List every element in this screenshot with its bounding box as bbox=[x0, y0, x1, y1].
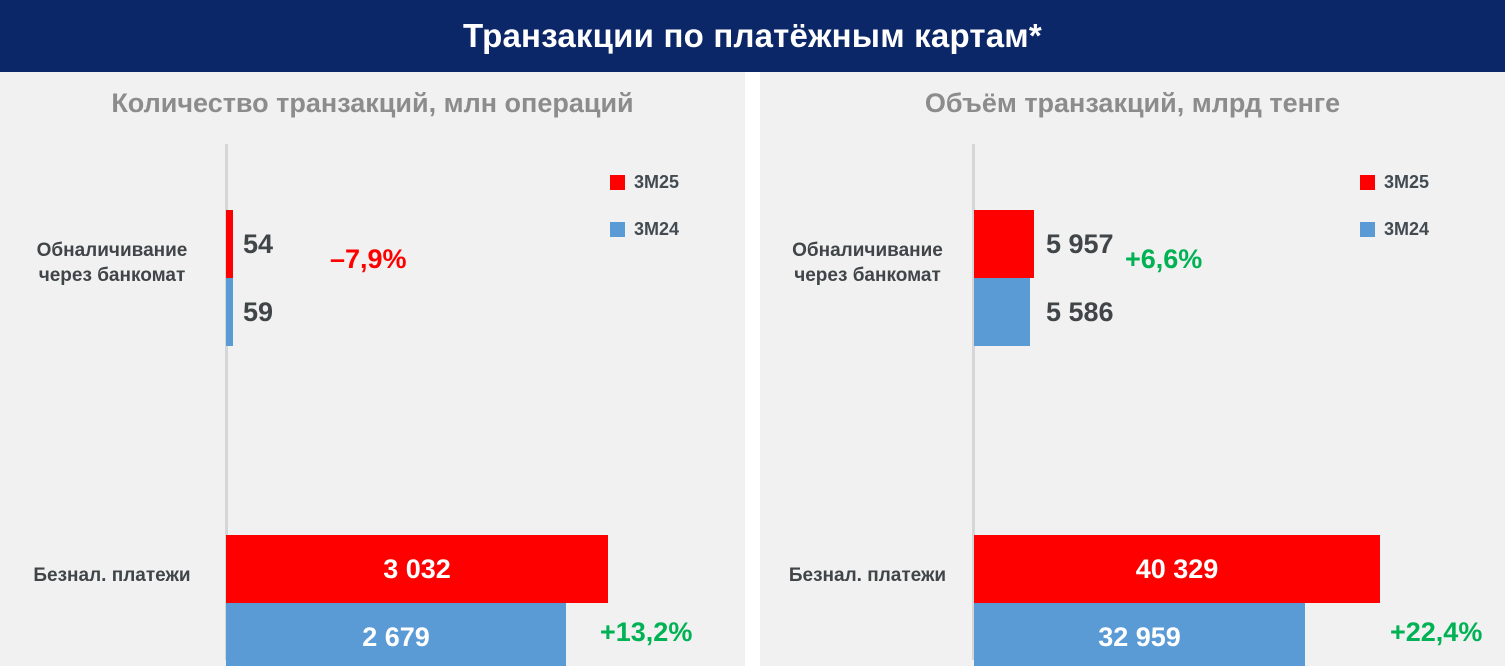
delta-label-cashless-right: +22,4% bbox=[1390, 617, 1482, 648]
bar-value-3m25-atm-left: 54 bbox=[243, 210, 273, 278]
category-label-atm-left: Обналичивание через банкомат bbox=[8, 238, 216, 288]
chart-title-right: Объём транзакций, млрд тенге bbox=[760, 88, 1505, 119]
bar-3m25-atm-right[interactable] bbox=[974, 210, 1034, 278]
bar-value-3m24-atm-left: 59 bbox=[243, 278, 273, 346]
chart-panel-transaction-volume: Объём транзакций, млрд тенге 3M25 3M24 bbox=[760, 72, 1505, 666]
header-bar: Транзакции по платёжным картам* bbox=[0, 0, 1505, 72]
page-title: Транзакции по платёжным картам* bbox=[463, 17, 1042, 55]
bar-value-3m25-atm-right: 5 957 bbox=[1046, 210, 1114, 278]
bar-value-3m25-cashless-left: 3 032 bbox=[226, 535, 608, 603]
bar-value-3m24-cashless-left: 2 679 bbox=[226, 603, 566, 666]
plot-area-right: 3M25 3M24 Обналичивание через банкомат 5… bbox=[760, 140, 1505, 666]
bar-3m24-atm-left[interactable] bbox=[226, 278, 233, 346]
category-label-cashless-right: Безнал. платежи bbox=[770, 563, 965, 588]
chart-title-left: Количество транзакций, млн операций bbox=[0, 88, 745, 119]
panel-divider bbox=[745, 72, 760, 666]
charts-container: Количество транзакций, млн операций 3M25… bbox=[0, 72, 1505, 666]
bar-value-3m24-cashless-right: 32 959 bbox=[974, 603, 1305, 666]
bar-group-cashless-left: Безнал. платежи 3 032 2 679 +13,2% bbox=[0, 430, 745, 666]
bar-value-3m25-cashless-right: 40 329 bbox=[974, 535, 1380, 603]
infographic-page: Транзакции по платёжным картам* Количест… bbox=[0, 0, 1505, 666]
category-label-cashless-left: Безнал. платежи bbox=[8, 563, 216, 588]
category-label-atm-right: Обналичивание через банкомат bbox=[770, 238, 965, 288]
bar-value-3m24-atm-right: 5 586 bbox=[1046, 278, 1114, 346]
delta-label-atm-left: –7,9% bbox=[330, 244, 407, 275]
bar-group-atm-right: Обналичивание через банкомат 5 957 5 586… bbox=[760, 140, 1505, 430]
chart-panel-transaction-count: Количество транзакций, млн операций 3M25… bbox=[0, 72, 745, 666]
bar-3m25-atm-left[interactable] bbox=[226, 210, 233, 278]
bar-group-cashless-right: Безнал. платежи 40 329 32 959 +22,4% bbox=[760, 430, 1505, 666]
bar-3m24-atm-right[interactable] bbox=[974, 278, 1030, 346]
bar-group-atm-left: Обналичивание через банкомат 54 59 –7,9% bbox=[0, 140, 745, 430]
plot-area-left: 3M25 3M24 Обналичивание через банкомат 5… bbox=[0, 140, 745, 666]
delta-label-atm-right: +6,6% bbox=[1125, 244, 1202, 275]
delta-label-cashless-left: +13,2% bbox=[600, 617, 692, 648]
